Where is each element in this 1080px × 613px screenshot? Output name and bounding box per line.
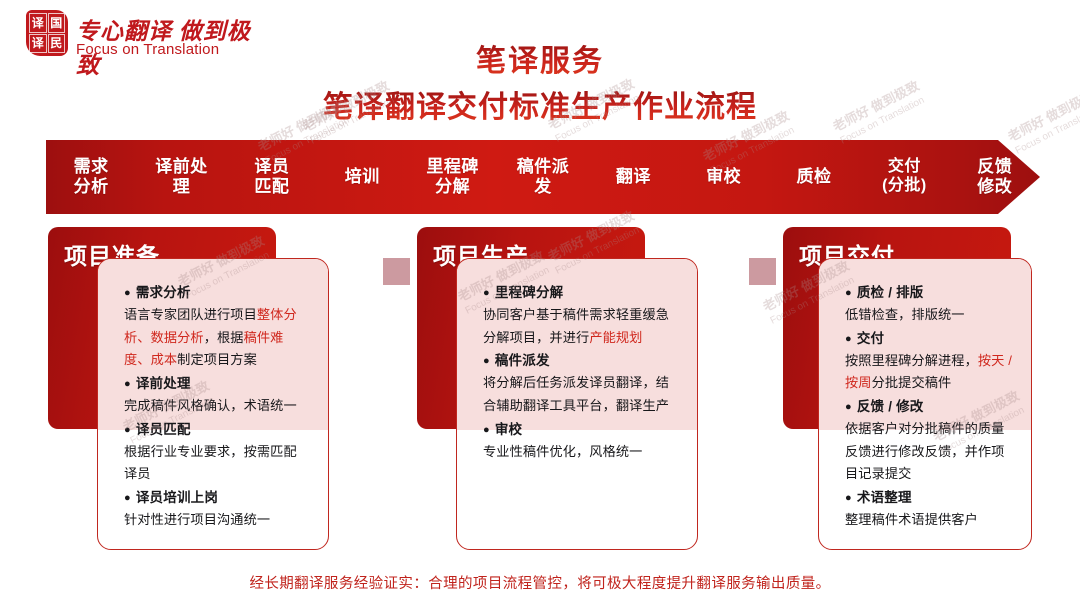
card-bullet-description: 低错检查，排版统一	[845, 304, 1013, 327]
slide-canvas: 译 国 译 民 专心翻译 做到极致 Focus on Translation 笔…	[0, 0, 1080, 613]
bullet-dot-icon: ●	[845, 287, 852, 299]
bullet-dot-icon: ●	[845, 333, 852, 345]
bullet-label: 质检 / 排版	[857, 285, 924, 300]
desc-text: 分批提交稿件	[872, 375, 952, 390]
bullet-dot-icon: ●	[845, 492, 852, 504]
card-bullet-title: ●交付	[845, 329, 1013, 350]
section-connector-square	[749, 258, 776, 285]
card-bullet-title: ●反馈 / 修改	[845, 397, 1013, 418]
footer-note: 经长期翻译服务经验证实：合理的项目流程管控，将可极大程度提升翻译服务输出质量。	[0, 572, 1080, 593]
desc-text: 依据客户对分批稿件的质量反馈进行修改反馈，并作项目记录提交	[845, 421, 1004, 481]
section-card: 项目交付●质检 / 排版低错检查，排版统一●交付按照里程碑分解进程，按天 / 按…	[0, 0, 1080, 613]
bullet-label: 术语整理	[857, 490, 912, 505]
desc-text: 按照里程碑分解进程，	[845, 353, 978, 368]
bullet-dot-icon: ●	[845, 401, 852, 413]
card-bullet-description: 整理稿件术语提供客户	[845, 509, 1013, 532]
desc-text: 整理稿件术语提供客户	[845, 512, 978, 527]
bullet-label: 反馈 / 修改	[857, 399, 924, 414]
desc-text: 低错检查，排版统一	[845, 307, 965, 322]
card-body: ●质检 / 排版低错检查，排版统一●交付按照里程碑分解进程，按天 / 按周分批提…	[819, 259, 1031, 543]
card-bullet-title: ●术语整理	[845, 488, 1013, 509]
bullet-label: 交付	[857, 331, 884, 346]
section-content-card: ●质检 / 排版低错检查，排版统一●交付按照里程碑分解进程，按天 / 按周分批提…	[818, 258, 1032, 550]
card-bullet-description: 依据客户对分批稿件的质量反馈进行修改反馈，并作项目记录提交	[845, 418, 1013, 486]
card-bullet-title: ●质检 / 排版	[845, 283, 1013, 304]
card-bullet-description: 按照里程碑分解进程，按天 / 按周分批提交稿件	[845, 350, 1013, 395]
